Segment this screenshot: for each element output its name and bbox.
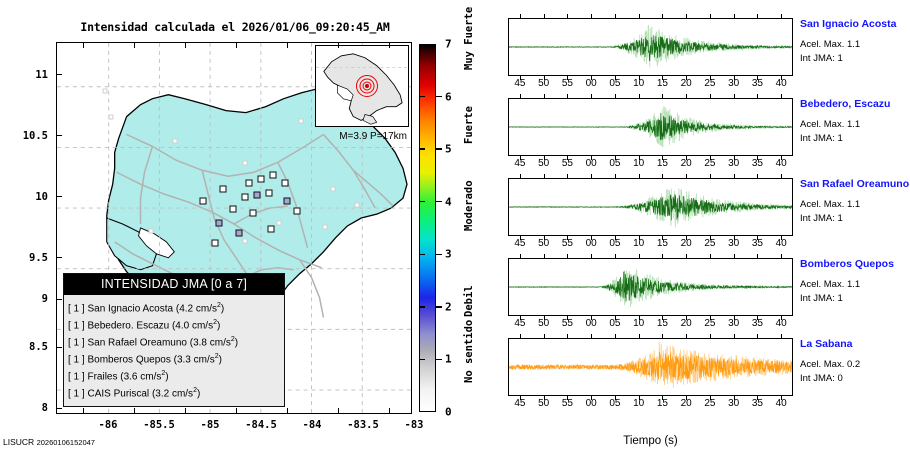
seismogram-max-acceleration: Acel. Max. 1.1: [800, 199, 860, 210]
legend-item: [ 1 ] San Ignacio Acosta (4.2 cm/s2): [68, 299, 284, 316]
map-station-marker[interactable]: [230, 206, 237, 213]
colorbar-tick-mark: [436, 359, 442, 360]
colorbar-gradient: [419, 44, 436, 412]
legend-item-accel-close: ): [221, 304, 224, 315]
seismogram-station-name[interactable]: San Ignacio Acosta: [800, 18, 896, 30]
colorbar-tick-mark: [420, 148, 425, 149]
seismogram-trace-box[interactable]: [508, 338, 793, 396]
footer-credit: LISUCR 20260106152047: [3, 437, 95, 447]
legend-item-station: Bebedero. Escazu: [87, 321, 169, 332]
x-tick-label: 45: [507, 238, 533, 249]
x-tick-label: 05: [602, 398, 628, 409]
x-tick-mark: [591, 174, 592, 178]
lat-tick-label: 9: [4, 293, 48, 305]
colorbar-category-label: Debil: [463, 255, 475, 317]
colorbar-tick-label: 3: [445, 248, 459, 261]
colorbar-tick-label: 0: [445, 406, 459, 419]
x-tick-label: 40: [768, 158, 794, 169]
map-station-marker[interactable]: [243, 161, 248, 166]
x-tick-mark: [567, 174, 568, 178]
x-tick-label: 20: [673, 78, 699, 89]
page-title: Intensidad calculada el 2026/01/06_09:20…: [60, 20, 410, 34]
map-x-tick: [83, 43, 84, 48]
legend-list: [ 1 ] San Ignacio Acosta (4.2 cm/s2)[ 1 …: [64, 295, 284, 406]
x-tick-mark: [591, 334, 592, 338]
colorbar-tick-mark: [436, 306, 442, 307]
x-tick-label: 10: [626, 398, 652, 409]
footer-timestamp: 20260106152047: [37, 438, 95, 447]
map-x-tick: [338, 43, 339, 48]
colorbar-tick-mark: [436, 148, 442, 149]
map-x-tick: [185, 43, 186, 48]
x-tick-label: 25: [697, 78, 723, 89]
legend-item-accel: (4.2 cm/s: [176, 304, 217, 315]
colorbar-tick-label: 1: [445, 353, 459, 366]
seismogram-waveform: [509, 19, 792, 75]
map-y-tick: [57, 408, 62, 409]
x-tick-mark: [544, 94, 545, 98]
x-tick-mark: [686, 94, 687, 98]
x-tick-label: 15: [649, 158, 675, 169]
x-tick-mark: [662, 14, 663, 18]
colorbar-tick-label: 7: [445, 38, 459, 51]
legend-item-station: Frailes: [87, 371, 117, 382]
x-tick-mark: [639, 94, 640, 98]
legend-item-station: San Rafael Oreamuno: [87, 338, 187, 349]
colorbar-tick-mark: [420, 306, 425, 307]
x-tick-label: 00: [578, 158, 604, 169]
x-tick-label: 20: [673, 318, 699, 329]
seismic-intensity-report: Intensidad calculada el 2026/01/06_09:20…: [0, 0, 910, 460]
seismogram-waveform: [509, 179, 792, 235]
map-station-marker[interactable]: [323, 225, 328, 230]
x-tick-label: 55: [554, 318, 580, 329]
x-tick-label: 55: [554, 158, 580, 169]
x-tick-mark: [781, 94, 782, 98]
map-station-marker[interactable]: [103, 89, 108, 94]
map-station-marker[interactable]: [250, 210, 257, 217]
map-station-marker[interactable]: [355, 203, 360, 208]
x-tick-mark: [757, 94, 758, 98]
x-tick-mark: [520, 334, 521, 338]
map-station-marker[interactable]: [200, 198, 207, 205]
colorbar-tick-label: 2: [445, 300, 459, 313]
map-station-marker[interactable]: [212, 240, 219, 247]
legend-item-accel: (3.3 cm/s: [174, 355, 215, 366]
x-tick-label: 50: [531, 238, 557, 249]
x-tick-mark: [544, 174, 545, 178]
map-station-marker[interactable]: [149, 229, 154, 234]
magnitude-depth-label: M=3.9 P=17km: [339, 131, 407, 142]
x-tick-label: 55: [554, 78, 580, 89]
legend-item-accel: (3.8 cm/s: [190, 338, 231, 349]
x-tick-label: 35: [744, 318, 770, 329]
x-tick-mark: [662, 174, 663, 178]
colorbar-tick-mark: [420, 201, 425, 202]
x-tick-label: 05: [602, 78, 628, 89]
epicenter-dot: [365, 84, 369, 88]
x-tick-label: 05: [602, 238, 628, 249]
map-station-marker[interactable]: [331, 187, 336, 192]
seismogram-trace-box[interactable]: [508, 98, 793, 156]
x-tick-mark: [662, 334, 663, 338]
lat-tick-label: 10.5: [4, 130, 48, 142]
x-tick-mark: [639, 254, 640, 258]
x-tick-label: 50: [531, 318, 557, 329]
x-tick-label: 10: [626, 238, 652, 249]
x-tick-label: 45: [507, 78, 533, 89]
seismogram-max-acceleration: Acel. Max. 0.2: [800, 359, 860, 370]
seismogram-jma-intensity: Int JMA: 1: [800, 293, 843, 304]
x-tick-label: 20: [673, 398, 699, 409]
x-tick-mark: [757, 334, 758, 338]
colorbar-tick-label: 5: [445, 143, 459, 156]
seismogram-panel[interactable]: 455055000510152025303540La SabanaAcel. M…: [500, 330, 910, 408]
legend-item-accel-close: ): [219, 355, 222, 366]
seismogram-max-acceleration: Acel. Max. 1.1: [800, 39, 860, 50]
x-tick-mark: [781, 174, 782, 178]
legend-item-level: [ 1 ]: [68, 321, 85, 332]
x-tick-mark: [544, 254, 545, 258]
x-tick-mark: [520, 94, 521, 98]
x-tick-label: 20: [673, 238, 699, 249]
seismogram-station-name[interactable]: La Sabana: [800, 338, 853, 350]
map-y-tick: [57, 135, 62, 136]
x-tick-mark: [520, 174, 521, 178]
x-tick-mark: [567, 94, 568, 98]
x-tick-mark: [591, 254, 592, 258]
x-tick-mark: [757, 254, 758, 258]
x-tick-label: 40: [768, 318, 794, 329]
legend-item-level: [ 1 ]: [68, 371, 85, 382]
map-station-marker[interactable]: [173, 139, 178, 144]
intensity-map[interactable]: M=3.9 P=17km INTENSIDAD JMA [0 a 7] [ 1 …: [56, 42, 412, 414]
seismogram-max-acceleration: Acel. Max. 1.1: [800, 279, 860, 290]
legend-item-accel: (3.2 cm/s: [152, 388, 193, 399]
x-tick-mark: [686, 254, 687, 258]
x-tick-label: 35: [744, 158, 770, 169]
map-station-marker[interactable]: [254, 192, 261, 199]
seismogram-trace-box[interactable]: [508, 18, 793, 76]
x-tick-label: 50: [531, 398, 557, 409]
seismogram-max-acceleration: Acel. Max. 1.1: [800, 119, 860, 130]
seismogram-station-name[interactable]: Bomberos Quepos: [800, 258, 894, 270]
intensity-legend: INTENSIDAD JMA [0 a 7] [ 1 ] San Ignacio…: [63, 273, 285, 407]
x-tick-mark: [686, 334, 687, 338]
x-tick-label: 25: [697, 158, 723, 169]
x-tick-label: 10: [626, 318, 652, 329]
seismogram-trace-box[interactable]: [508, 178, 793, 236]
legend-item-level: [ 1 ]: [68, 338, 85, 349]
x-tick-mark: [710, 14, 711, 18]
x-tick-label: 45: [507, 398, 533, 409]
map-station-marker[interactable]: [268, 226, 275, 233]
x-tick-label: 30: [721, 318, 747, 329]
seismogram-jma-intensity: Int JMA: 1: [800, 133, 843, 144]
x-tick-label: 15: [649, 78, 675, 89]
x-tick-label: 00: [578, 318, 604, 329]
seismogram-jma-intensity: Int JMA: 1: [800, 213, 843, 224]
colorbar-category-label: Muy Fuerte: [463, 0, 475, 70]
seismogram-station-name[interactable]: San Rafael Oreamuno: [800, 178, 909, 190]
x-tick-label: 35: [744, 238, 770, 249]
x-tick-label: 00: [578, 78, 604, 89]
colorbar-tick-mark: [436, 201, 442, 202]
map-station-marker[interactable]: [243, 239, 248, 244]
map-station-marker[interactable]: [236, 230, 243, 237]
map-station-marker[interactable]: [242, 194, 249, 201]
colorbar-tick-mark: [436, 254, 442, 255]
x-tick-label: 40: [768, 398, 794, 409]
x-tick-label: 55: [554, 398, 580, 409]
map-x-tick: [389, 408, 390, 413]
map-y-tick: [57, 196, 62, 197]
map-x-tick: [83, 408, 84, 413]
map-y-tick: [57, 347, 62, 348]
seismogram-panel[interactable]: 455055000510152025303540Bebedero, Escazu…: [500, 90, 910, 168]
x-tick-mark: [544, 334, 545, 338]
legend-item-accel: (3.6 cm/s: [120, 371, 161, 382]
legend-item-level: [ 1 ]: [68, 304, 85, 315]
x-tick-label: 50: [531, 158, 557, 169]
map-x-tick: [236, 408, 237, 413]
x-tick-mark: [686, 14, 687, 18]
legend-item-accel-close: ): [165, 371, 168, 382]
colorbar-category-label: Moderado: [463, 153, 475, 231]
map-x-tick: [134, 43, 135, 48]
x-tick-label: 30: [721, 78, 747, 89]
map-station-marker[interactable]: [270, 172, 277, 179]
legend-item-station: CAIS Puriscal: [87, 388, 149, 399]
x-tick-label: 15: [649, 238, 675, 249]
x-tick-mark: [520, 14, 521, 18]
x-tick-mark: [615, 334, 616, 338]
x-tick-mark: [662, 94, 663, 98]
x-tick-mark: [615, 94, 616, 98]
lon-tick-label: -85.5: [133, 419, 185, 431]
x-tick-label: 00: [578, 398, 604, 409]
x-tick-label: 10: [626, 78, 652, 89]
seismogram-panel[interactable]: 455055000510152025303540Bomberos QueposA…: [500, 250, 910, 328]
x-tick-mark: [734, 254, 735, 258]
x-tick-label: 45: [507, 318, 533, 329]
lon-tick-label: -83: [388, 419, 440, 431]
x-tick-label: 25: [697, 238, 723, 249]
x-tick-label: 30: [721, 398, 747, 409]
legend-item-level: [ 1 ]: [68, 388, 85, 399]
x-tick-mark: [781, 14, 782, 18]
x-tick-mark: [544, 14, 545, 18]
legend-item: [ 1 ] San Rafael Oreamuno (3.8 cm/s2): [68, 333, 284, 350]
x-tick-mark: [662, 254, 663, 258]
legend-item-accel-close: ): [197, 388, 200, 399]
map-x-tick: [287, 43, 288, 48]
map-x-tick: [134, 408, 135, 413]
legend-item: [ 1 ] Bebedero. Escazu (4.0 cm/s2): [68, 316, 284, 333]
map-x-tick: [389, 43, 390, 48]
x-tick-mark: [734, 334, 735, 338]
x-tick-label: 55: [554, 238, 580, 249]
x-tick-label: 00: [578, 238, 604, 249]
x-tick-label: 40: [768, 238, 794, 249]
lat-tick-label: 10: [4, 191, 48, 203]
colorbar-category-label: No sentido: [463, 315, 475, 383]
x-tick-label: 30: [721, 158, 747, 169]
x-tick-mark: [639, 334, 640, 338]
lat-tick-label: 9.5: [4, 252, 48, 264]
map-y-tick: [57, 74, 62, 75]
seismogram-jma-intensity: Int JMA: 0: [800, 373, 843, 384]
legend-item-accel-close: ): [217, 321, 220, 332]
x-tick-label: 25: [697, 318, 723, 329]
x-tick-mark: [591, 94, 592, 98]
colorbar-tick-mark: [420, 359, 425, 360]
x-tick-label: 15: [649, 398, 675, 409]
map-x-tick: [287, 408, 288, 413]
seismogram-trace-box[interactable]: [508, 258, 793, 316]
x-tick-label: 20: [673, 158, 699, 169]
x-tick-mark: [567, 14, 568, 18]
legend-item-station: San Ignacio Acosta: [87, 304, 173, 315]
x-tick-label: 45: [507, 158, 533, 169]
x-tick-mark: [710, 94, 711, 98]
map-y-tick: [57, 299, 62, 300]
x-tick-mark: [591, 14, 592, 18]
x-tick-mark: [734, 174, 735, 178]
x-tick-label: 25: [697, 398, 723, 409]
colorbar-tick-mark: [436, 96, 442, 97]
seismogram-panel[interactable]: 455055000510152025303540San Ignacio Acos…: [500, 10, 910, 88]
x-tick-label: 40: [768, 78, 794, 89]
map-station-marker[interactable]: [299, 119, 304, 124]
x-tick-label: 50: [531, 78, 557, 89]
map-station-marker[interactable]: [266, 190, 273, 197]
legend-item: [ 1 ] Frailes (3.6 cm/s2): [68, 367, 284, 384]
map-station-marker[interactable]: [294, 208, 301, 215]
seismogram-panel[interactable]: 455055000510152025303540San Rafael Oream…: [500, 170, 910, 248]
seismogram-waveform: [509, 339, 792, 395]
lat-tick-label: 8: [4, 402, 48, 414]
colorbar-category-label: Fuerte: [463, 74, 475, 144]
legend-item-accel: (4.0 cm/s: [172, 321, 213, 332]
map-x-tick: [236, 43, 237, 48]
legend-header: INTENSIDAD JMA [0 a 7]: [64, 274, 284, 295]
x-tick-mark: [757, 174, 758, 178]
lon-tick-label: -84: [286, 419, 338, 431]
x-tick-mark: [615, 174, 616, 178]
legend-item: [ 1 ] CAIS Puriscal (3.2 cm/s2): [68, 384, 284, 401]
x-tick-mark: [781, 254, 782, 258]
map-x-tick: [338, 408, 339, 413]
x-tick-mark: [710, 174, 711, 178]
lon-tick-label: -84.5: [235, 419, 287, 431]
seismogram-station-name[interactable]: Bebedero, Escazu: [800, 98, 890, 110]
footer-org: LISUCR: [3, 437, 34, 447]
lon-tick-label: -85: [184, 419, 236, 431]
map-station-marker[interactable]: [282, 180, 289, 187]
x-tick-label: 30: [721, 238, 747, 249]
x-tick-mark: [520, 254, 521, 258]
x-axis-label: Tiempo (s): [508, 435, 793, 447]
map-station-marker[interactable]: [109, 115, 114, 120]
map-station-marker[interactable]: [284, 198, 291, 205]
x-tick-mark: [734, 14, 735, 18]
map-station-marker[interactable]: [216, 220, 223, 227]
map-station-marker[interactable]: [277, 221, 282, 226]
legend-item-accel-close: ): [235, 338, 238, 349]
legend-item: [ 1 ] Bomberos Quepos (3.3 cm/s2): [68, 350, 284, 367]
x-tick-label: 35: [744, 398, 770, 409]
seismogram-waveform: [509, 99, 792, 155]
map-x-tick: [185, 408, 186, 413]
inset-locator-map[interactable]: [315, 45, 409, 127]
seismogram-waveform: [509, 259, 792, 315]
colorbar-tick-label: 4: [445, 195, 459, 208]
lat-tick-label: 8.5: [4, 341, 48, 353]
x-tick-mark: [710, 254, 711, 258]
x-tick-mark: [710, 334, 711, 338]
x-tick-mark: [757, 14, 758, 18]
colorbar-tick-mark: [420, 254, 425, 255]
x-tick-mark: [567, 334, 568, 338]
x-tick-mark: [567, 254, 568, 258]
legend-item-level: [ 1 ]: [68, 355, 85, 366]
map-station-marker[interactable]: [246, 180, 253, 187]
seismogram-jma-intensity: Int JMA: 1: [800, 53, 843, 64]
x-tick-mark: [615, 254, 616, 258]
x-tick-label: 05: [602, 318, 628, 329]
map-station-marker[interactable]: [220, 186, 227, 193]
legend-item-station: Bomberos Quepos: [87, 355, 170, 366]
x-tick-mark: [639, 174, 640, 178]
x-tick-mark: [781, 334, 782, 338]
x-tick-mark: [734, 94, 735, 98]
x-tick-label: 35: [744, 78, 770, 89]
x-tick-mark: [686, 174, 687, 178]
map-y-tick: [57, 257, 62, 258]
x-tick-mark: [615, 14, 616, 18]
x-tick-mark: [639, 14, 640, 18]
map-station-marker[interactable]: [258, 176, 265, 183]
lon-tick-label: -86: [82, 419, 134, 431]
intensity-colorbar: 01234567 No sentidoDebilModeradoFuerteMu…: [419, 44, 489, 412]
lon-tick-label: -83.5: [337, 419, 389, 431]
x-tick-label: 10: [626, 158, 652, 169]
x-tick-label: 15: [649, 318, 675, 329]
colorbar-tick-mark: [420, 96, 425, 97]
seismogram-stack: 455055000510152025303540San Ignacio Acos…: [500, 10, 910, 450]
x-tick-label: 05: [602, 158, 628, 169]
lat-tick-label: 11: [4, 69, 48, 81]
colorbar-tick-label: 6: [445, 90, 459, 103]
